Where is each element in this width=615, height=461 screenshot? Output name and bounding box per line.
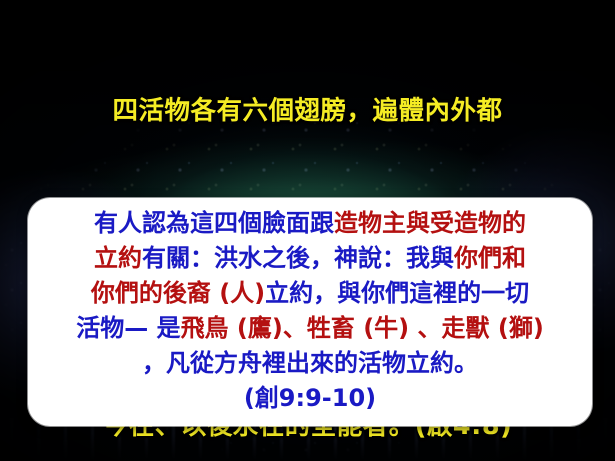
commentary-segment-1-2: 造物主與受造物的: [334, 209, 526, 237]
commentary-line-4: 活物— 是飛鳥 (鷹)、牲畜 (牛) 、走獸 (獅): [38, 311, 582, 346]
commentary-card: 有人認為這四個臉面跟造物主與受造物的立約有關：洪水之後，神說：我與你們和你們的後…: [28, 198, 592, 426]
commentary-segment-4-2: 飛鳥 (鷹)、牲畜 (牛) 、走獸 (獅): [181, 314, 544, 342]
commentary-line-6: (創9:9-10): [38, 381, 582, 416]
commentary-segment-5-1: ，凡從方舟裡出來的活物立約。: [142, 349, 478, 377]
commentary-segment-2-3: 你們和: [454, 244, 526, 272]
commentary-segment-1-1: 有人認為這四個臉面跟: [94, 209, 334, 237]
commentary-segment-2-2: 有關：洪水之後，神說：我與: [142, 244, 454, 272]
commentary-segment-3-1: 你們的後裔 (人): [91, 279, 265, 307]
commentary-line-3: 你們的後裔 (人)立約，與你們這裡的一切: [38, 276, 582, 311]
slide-canvas: 四活物各有六個翅膀，遍體內外都 滿了眼睛。他們晝夜不住的說： 聖哉！聖哉！聖哉！…: [0, 0, 615, 461]
commentary-segment-6-1: (創9:9-10): [244, 384, 376, 412]
commentary-line-2: 立約有關：洪水之後，神說：我與你們和: [38, 241, 582, 276]
commentary-line-1: 有人認為這四個臉面跟造物主與受造物的: [38, 206, 582, 241]
commentary-line-5: ，凡從方舟裡出來的活物立約。: [38, 346, 582, 381]
commentary-text-block: 有人認為這四個臉面跟造物主與受造物的立約有關：洪水之後，神說：我與你們和你們的後…: [38, 206, 582, 416]
commentary-segment-4-1: 活物— 是: [76, 314, 180, 342]
scripture-line-1: 四活物各有六個翅膀，遍體內外都: [0, 94, 615, 129]
commentary-segment-2-1: 立約: [94, 244, 142, 272]
commentary-segment-3-2: 立約，與你們這裡的一切: [265, 279, 529, 307]
